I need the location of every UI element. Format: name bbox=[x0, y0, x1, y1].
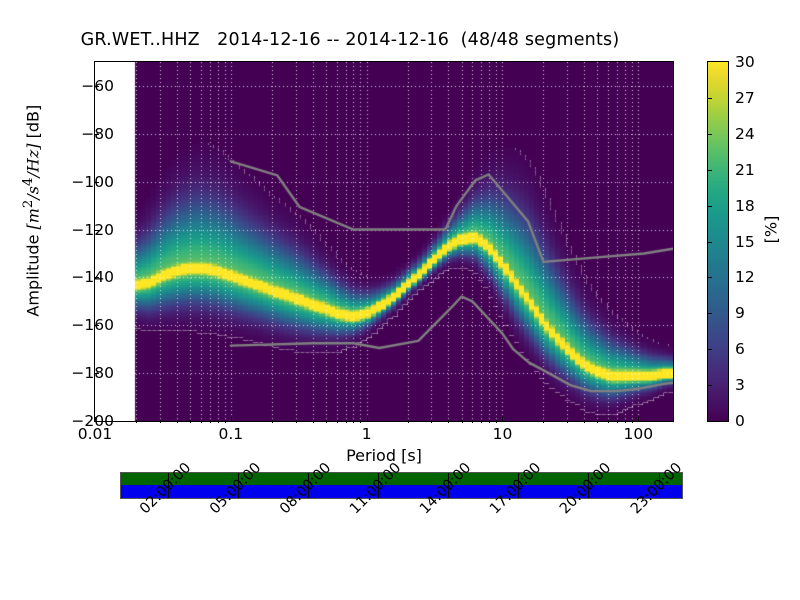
x-tick-mark-minor bbox=[608, 420, 609, 423]
x-tick-mark-minor bbox=[462, 420, 463, 423]
y-axis-label: Amplitude [m2/s4/Hz] [dB] bbox=[21, 31, 42, 391]
colorbar-tick-mark bbox=[707, 98, 712, 99]
x-tick-label: 0.1 bbox=[219, 425, 244, 443]
colorbar-tick-label: 18 bbox=[735, 197, 755, 215]
x-tick-mark-minor bbox=[617, 420, 618, 423]
y-tick-mark bbox=[94, 373, 99, 374]
x-tick-mark-minor bbox=[272, 420, 273, 423]
ppsd-histogram-heatmap bbox=[95, 62, 673, 421]
colorbar-tick-mark bbox=[707, 134, 712, 135]
y-tick-mark bbox=[94, 86, 99, 87]
y-tick-mark bbox=[94, 325, 99, 326]
colorbar-tick-label: 6 bbox=[735, 340, 745, 358]
colorbar-tick-label: 30 bbox=[735, 53, 755, 71]
x-tick-mark bbox=[502, 417, 503, 422]
x-tick-mark-minor bbox=[567, 420, 568, 423]
colorbar-tick-mark bbox=[707, 242, 712, 243]
colorbar-tick-label: 12 bbox=[735, 268, 755, 286]
colorbar-tick-label: 15 bbox=[735, 233, 755, 251]
x-tick-mark-minor bbox=[218, 420, 219, 423]
colorbar-tick-mark bbox=[707, 385, 712, 386]
x-tick-mark-minor bbox=[496, 420, 497, 423]
colorbar-tick-mark bbox=[707, 206, 712, 207]
x-tick-mark-minor bbox=[472, 420, 473, 423]
x-tick-mark-minor bbox=[448, 420, 449, 423]
colorbar-tick-label: 3 bbox=[735, 376, 745, 394]
x-tick-label: 100 bbox=[624, 425, 654, 443]
colorbar-tick-mark bbox=[707, 277, 712, 278]
x-tick-mark bbox=[95, 417, 96, 422]
x-tick-label: 1 bbox=[362, 425, 372, 443]
colorbar-tick-mark bbox=[707, 349, 712, 350]
x-tick-mark-minor bbox=[431, 420, 432, 423]
colorbar-tick-label: 9 bbox=[735, 304, 745, 322]
colorbar-tick-label: 24 bbox=[735, 125, 755, 143]
x-tick-mark-minor bbox=[597, 420, 598, 423]
colorbar-tick-mark bbox=[707, 313, 712, 314]
y-tick-label: −120 bbox=[71, 221, 114, 239]
x-tick-mark-minor bbox=[360, 420, 361, 423]
x-tick-mark-minor bbox=[177, 420, 178, 423]
x-tick-mark-minor bbox=[584, 420, 585, 423]
x-tick-mark-minor bbox=[190, 420, 191, 423]
y-tick-mark bbox=[94, 182, 99, 183]
x-tick-mark-minor bbox=[313, 420, 314, 423]
y-tick-label: −140 bbox=[71, 268, 114, 286]
x-tick-mark bbox=[231, 417, 232, 422]
y-tick-label: −160 bbox=[71, 316, 114, 334]
x-tick-mark-minor bbox=[201, 420, 202, 423]
x-tick-mark bbox=[367, 417, 368, 422]
x-tick-mark-minor bbox=[136, 420, 137, 423]
colorbar-label: [%] bbox=[762, 200, 781, 260]
colorbar-tick-label: 27 bbox=[735, 89, 755, 107]
x-tick-mark-minor bbox=[353, 420, 354, 423]
y-tick-label: −180 bbox=[71, 364, 114, 382]
x-tick-mark-minor bbox=[160, 420, 161, 423]
y-tick-mark bbox=[94, 134, 99, 135]
x-tick-mark-minor bbox=[632, 420, 633, 423]
x-tick-mark-minor bbox=[225, 420, 226, 423]
x-tick-mark-minor bbox=[543, 420, 544, 423]
y-tick-label: −100 bbox=[71, 173, 114, 191]
y-tick-mark bbox=[94, 230, 99, 231]
x-tick-mark-minor bbox=[625, 420, 626, 423]
x-tick-mark-minor bbox=[346, 420, 347, 423]
x-tick-mark-minor bbox=[337, 420, 338, 423]
ppsd-plot-area[interactable] bbox=[94, 61, 674, 422]
x-tick-mark-minor bbox=[296, 420, 297, 423]
x-tick-mark-minor bbox=[408, 420, 409, 423]
colorbar-tick-mark bbox=[707, 170, 712, 171]
x-tick-mark-minor bbox=[326, 420, 327, 423]
x-tick-mark bbox=[638, 417, 639, 422]
page-title: GR.WET..HHZ 2014-12-16 -- 2014-12-16 (48… bbox=[0, 30, 700, 50]
x-tick-mark-minor bbox=[210, 420, 211, 423]
x-tick-label: 0.01 bbox=[78, 425, 113, 443]
colorbar-tick-label: 21 bbox=[735, 161, 755, 179]
y-tick-mark bbox=[94, 277, 99, 278]
x-tick-mark-minor bbox=[481, 420, 482, 423]
x-tick-mark-minor bbox=[489, 420, 490, 423]
colorbar-tick-label: 0 bbox=[735, 412, 745, 430]
x-tick-label: 10 bbox=[493, 425, 513, 443]
